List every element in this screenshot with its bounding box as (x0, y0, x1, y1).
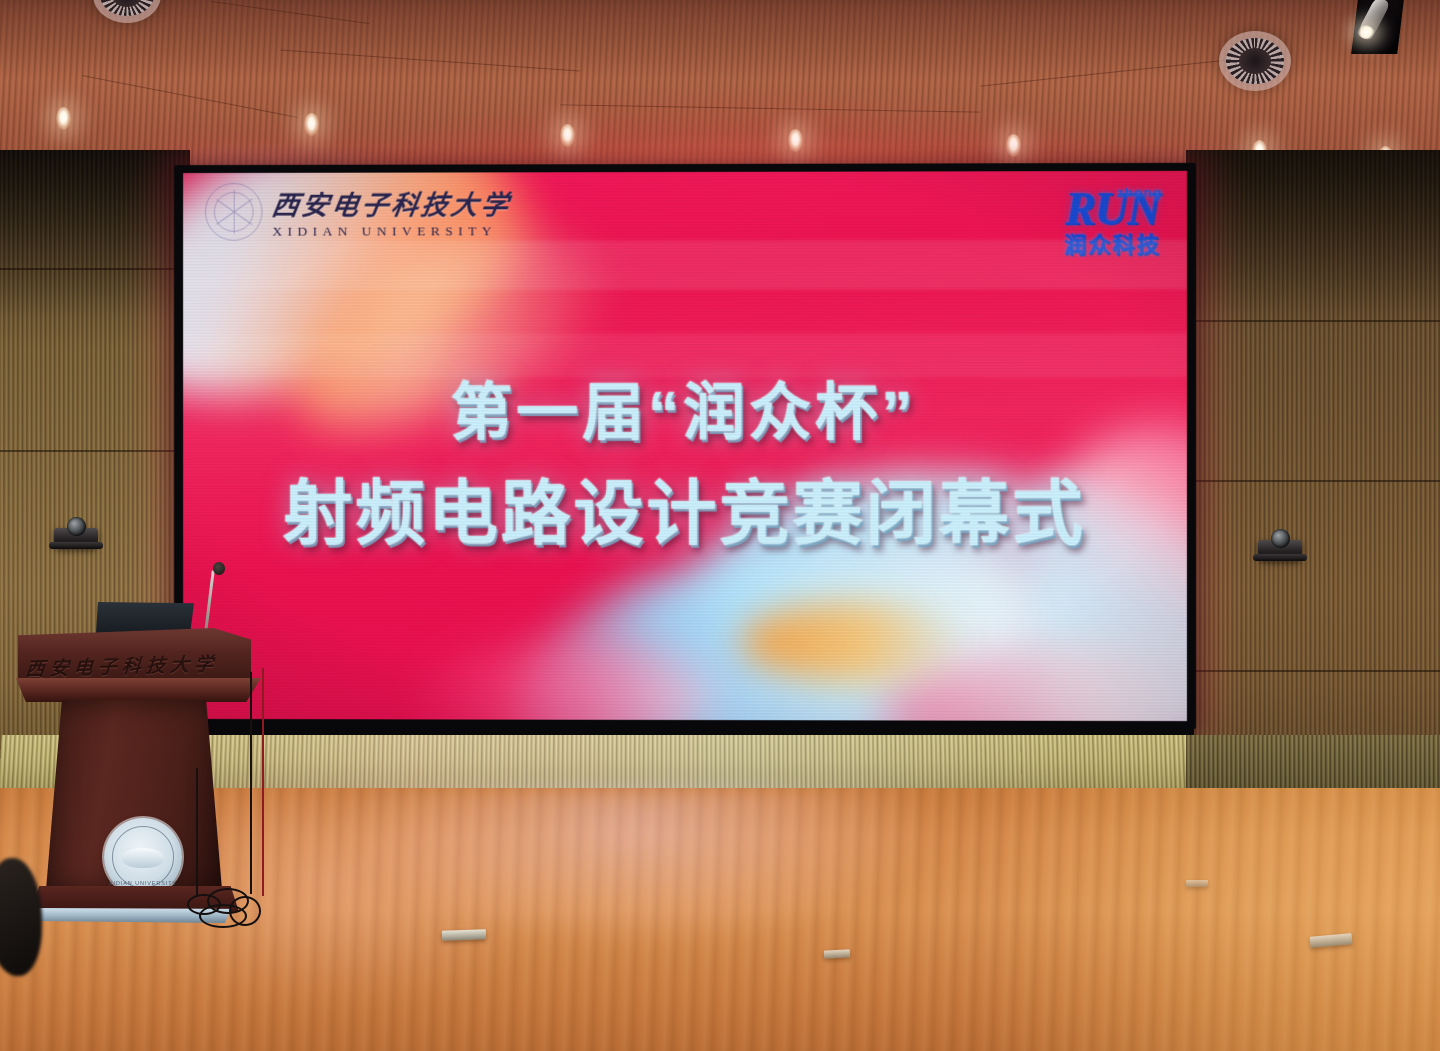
downlight-icon (56, 107, 71, 130)
floor-outlet-cover (1186, 880, 1208, 887)
led-screen-frame: 西安电子科技大学 XIDIAN UNIVERSITY RUN zhong 润众科… (174, 163, 1196, 729)
event-title: 第一届“润众杯” 射频电路设计竞赛闭幕式 (183, 362, 1187, 560)
floor-outlet-cover (442, 929, 486, 941)
lectern-ledge (16, 678, 261, 702)
xidian-seal-icon (205, 183, 263, 241)
ceiling-seam (560, 104, 980, 112)
downlight-icon (788, 129, 803, 152)
ptz-camera-left (54, 528, 98, 548)
ribbon-graphic (741, 602, 972, 682)
spotlight-icon (1357, 0, 1391, 38)
auditorium-scene: 西安电子科技大学 XIDIAN UNIVERSITY RUN zhong 润众科… (0, 0, 1440, 1051)
university-name-cn: 西安电子科技大学 (269, 183, 514, 222)
university-logo: 西安电子科技大学 XIDIAN UNIVERSITY (205, 182, 511, 240)
event-title-line1: 第一届“润众杯” (183, 362, 1187, 452)
ceiling-seam (981, 58, 1240, 86)
ptz-camera-right (1258, 540, 1302, 560)
sponsor-logo: RUN zhong 润众科技 (1064, 187, 1161, 259)
floor-outlet-cover (824, 949, 850, 958)
cable-tangle (185, 888, 263, 928)
led-screen-content: 西安电子科技大学 XIDIAN UNIVERSITY RUN zhong 润众科… (183, 171, 1187, 721)
ceiling-vent-icon (1226, 38, 1284, 84)
downlight-icon (560, 124, 575, 147)
ceiling-vent-icon (100, 0, 154, 16)
ceiling-seam (280, 50, 579, 72)
floor-warm-light (980, 788, 1440, 1051)
downlight-icon (1006, 134, 1021, 157)
event-title-line2: 射频电路设计竞赛闭幕式 (183, 458, 1187, 560)
microphone-icon (213, 562, 225, 575)
sponsor-pinyin: zhong (1117, 185, 1163, 200)
lectern-engraved-text: 西安电子科技大学 (25, 649, 220, 681)
ceiling-seam (211, 1, 370, 24)
xidian-seal-emblem: XIDIAN UNIVERSITY (104, 818, 182, 896)
confidence-monitor (96, 602, 194, 634)
downlight-icon (304, 113, 319, 136)
lectern-top: 西安电子科技大学 (18, 628, 251, 680)
ceiling-seam (82, 75, 298, 118)
spotlight-track-slot (1351, 0, 1405, 54)
university-name-en: XIDIAN UNIVERSITY (272, 223, 511, 239)
stage-skirt-shadowed (1186, 735, 1440, 791)
